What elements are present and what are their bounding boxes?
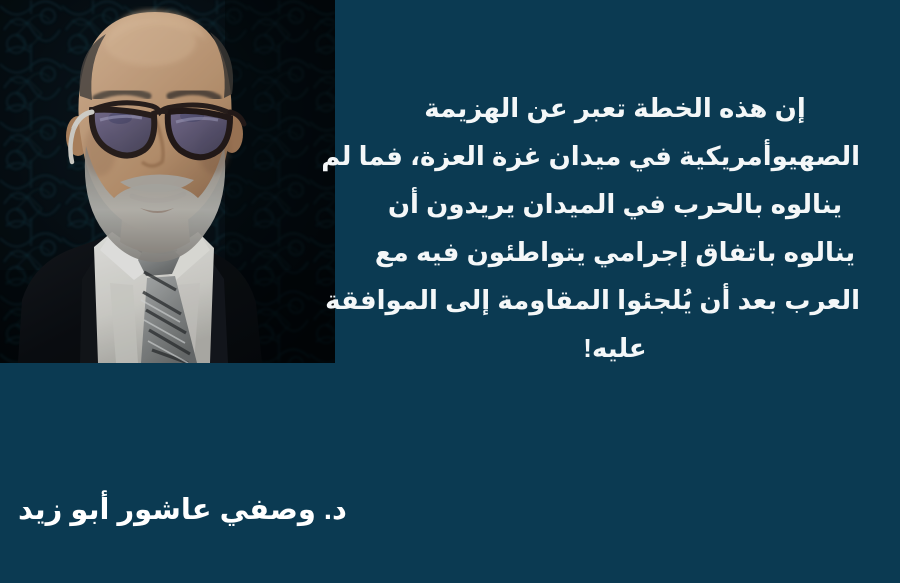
quote-card: إن هذه الخطة تعبر عن الهزيمة الصهيوأمريك… xyxy=(0,0,900,583)
portrait-illustration xyxy=(0,0,335,363)
quote-line: الصهيوأمريكية في ميدان غزة العزة، فما لم xyxy=(370,132,860,180)
portrait-photo xyxy=(0,0,335,363)
quote-line: ينالوه بالحرب في الميدان يريدون أن xyxy=(370,180,860,228)
quote-line: ينالوه باتفاق إجرامي يتواطئون فيه مع xyxy=(370,228,860,276)
quote-line: عليه! xyxy=(370,324,860,372)
quote-line: العرب بعد أن يُلجئوا المقاومة إلى المواف… xyxy=(370,276,860,324)
attribution-name: د. وصفي عاشور أبو زيد xyxy=(18,490,347,530)
quote-line: إن هذه الخطة تعبر عن الهزيمة xyxy=(370,84,860,132)
quote-text: إن هذه الخطة تعبر عن الهزيمة الصهيوأمريك… xyxy=(370,84,860,372)
